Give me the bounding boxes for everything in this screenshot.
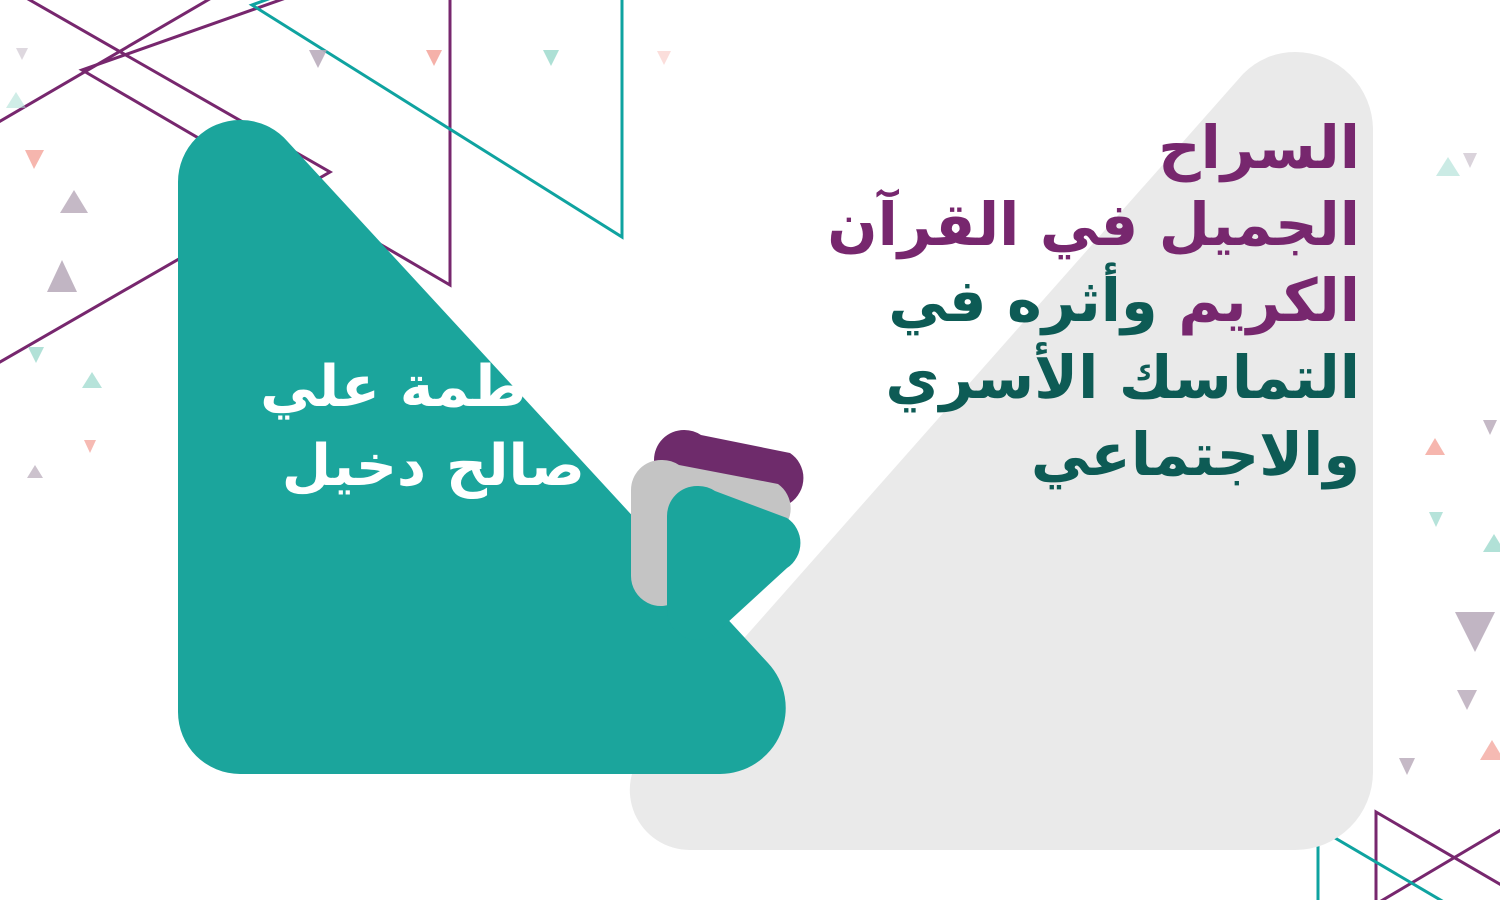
title-line-1: السراح <box>800 110 1360 187</box>
book-title: السراح الجميل في القرآن الكريم وأثره في … <box>800 110 1360 493</box>
cover-canvas: السراح الجميل في القرآن الكريم وأثره في … <box>0 0 1500 900</box>
title-line-3-seg-1: الكريم <box>1178 266 1360 335</box>
title-line-4: التماسك الأسري <box>800 340 1360 417</box>
title-line-3-seg-2: وأثره في <box>888 266 1178 335</box>
title-line-5: والاجتماعي <box>800 417 1360 494</box>
author-line-1: فاطمة علي <box>215 348 585 427</box>
author-line-2: صالح دخيل <box>215 427 585 506</box>
author-name: فاطمة علي صالح دخيل <box>215 348 585 505</box>
title-line-2: الجميل في القرآن <box>800 187 1360 264</box>
title-line-3: الكريم وأثره في <box>800 263 1360 340</box>
